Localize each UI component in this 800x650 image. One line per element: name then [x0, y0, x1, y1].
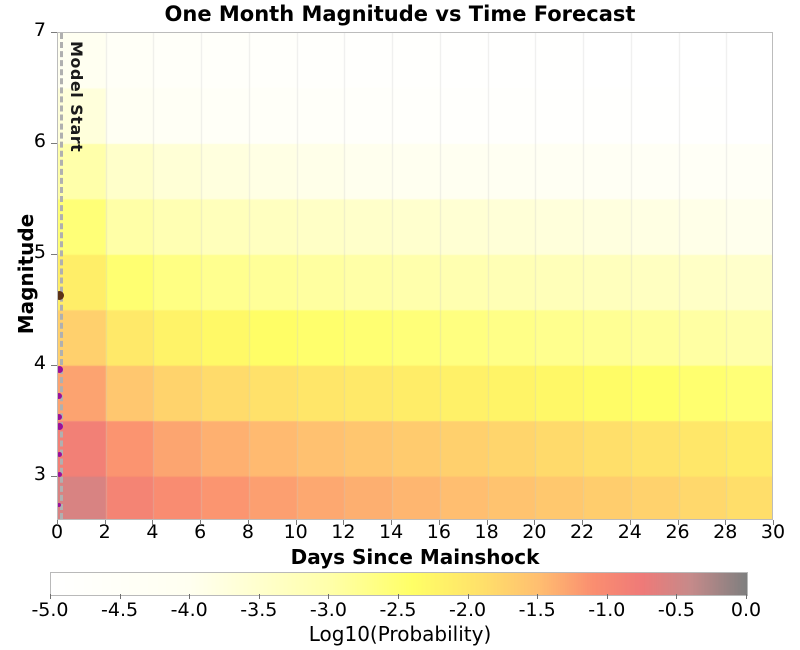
x-tick-mark — [725, 520, 726, 525]
colorbar-tick-label: 0.0 — [706, 599, 786, 621]
y-tick-label: 7 — [0, 19, 46, 41]
colorbar-tick-label: -5.0 — [10, 599, 90, 621]
x-tick-mark — [773, 520, 774, 525]
colorbar-tick-label: -1.0 — [567, 599, 647, 621]
colorbar-gradient — [50, 572, 748, 596]
model-start-line — [60, 33, 63, 519]
event-marker — [57, 414, 62, 420]
colorbar-tick-label: -0.5 — [636, 599, 716, 621]
y-tick-mark — [51, 476, 57, 477]
colorbar-tick-label: -1.5 — [497, 599, 577, 621]
x-tick-mark — [487, 520, 488, 525]
colorbar-tick-label: -3.0 — [288, 599, 368, 621]
x-axis-title: Days Since Mainshock — [57, 545, 773, 569]
y-tick-mark — [51, 365, 57, 366]
colorbar-tick-label: -4.5 — [80, 599, 160, 621]
x-tick-mark — [296, 520, 297, 525]
page-title: One Month Magnitude vs Time Forecast — [0, 2, 800, 26]
colorbar[interactable] — [50, 572, 746, 594]
colorbar-tick-label: -4.0 — [149, 599, 229, 621]
y-tick-label: 6 — [0, 130, 46, 152]
event-marker — [57, 423, 63, 430]
y-axis-title: Magnitude — [14, 164, 38, 384]
x-tick-mark — [248, 520, 249, 525]
x-tick-mark — [391, 520, 392, 525]
y-tick-mark — [51, 143, 57, 144]
event-marker — [57, 472, 62, 477]
y-tick-mark — [51, 254, 57, 255]
x-tick-mark — [152, 520, 153, 525]
y-tick-label: 3 — [0, 463, 46, 485]
colorbar-tick-label: -2.5 — [358, 599, 438, 621]
colorbar-tick-label: -2.0 — [428, 599, 508, 621]
x-tick-mark — [343, 520, 344, 525]
heatmap-canvas — [58, 33, 773, 520]
heatmap-plot-area[interactable]: Model Start — [57, 32, 773, 520]
x-tick-label: 30 — [743, 521, 800, 543]
event-marker — [57, 393, 62, 399]
x-tick-mark — [200, 520, 201, 525]
x-tick-mark — [678, 520, 679, 525]
model-start-label: Model Start — [67, 41, 86, 152]
x-tick-mark — [57, 520, 58, 525]
y-tick-mark — [51, 32, 57, 33]
colorbar-title: Log10(Probability) — [0, 622, 800, 646]
colorbar-tick-label: -3.5 — [219, 599, 299, 621]
x-tick-mark — [439, 520, 440, 525]
forecast-chart-page: One Month Magnitude vs Time Forecast Mod… — [0, 0, 800, 650]
x-tick-mark — [630, 520, 631, 525]
x-tick-mark — [582, 520, 583, 525]
x-tick-mark — [534, 520, 535, 525]
event-marker — [57, 366, 63, 373]
x-tick-mark — [105, 520, 106, 525]
event-marker — [57, 452, 62, 457]
